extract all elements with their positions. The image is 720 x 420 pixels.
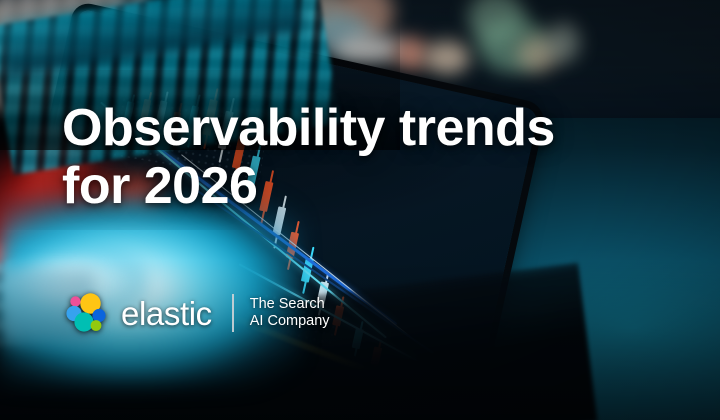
bokeh-light — [250, 8, 290, 48]
logo-divider — [232, 294, 234, 332]
bokeh-light — [546, 22, 580, 62]
banner-headline: Observability trends for 2026 — [62, 99, 672, 215]
elastic-logo-lockup[interactable]: elastic The Search AI Company — [63, 290, 330, 336]
elastic-tagline: The Search AI Company — [250, 296, 330, 331]
marketing-banner: Observability trends for 2026 elastic Th… — [0, 0, 720, 420]
bokeh-light — [394, 36, 428, 70]
bokeh-light — [332, 34, 404, 64]
elastic-wordmark: elastic — [121, 297, 212, 330]
elastic-logo-icon — [63, 290, 109, 336]
bokeh-light — [424, 40, 470, 74]
